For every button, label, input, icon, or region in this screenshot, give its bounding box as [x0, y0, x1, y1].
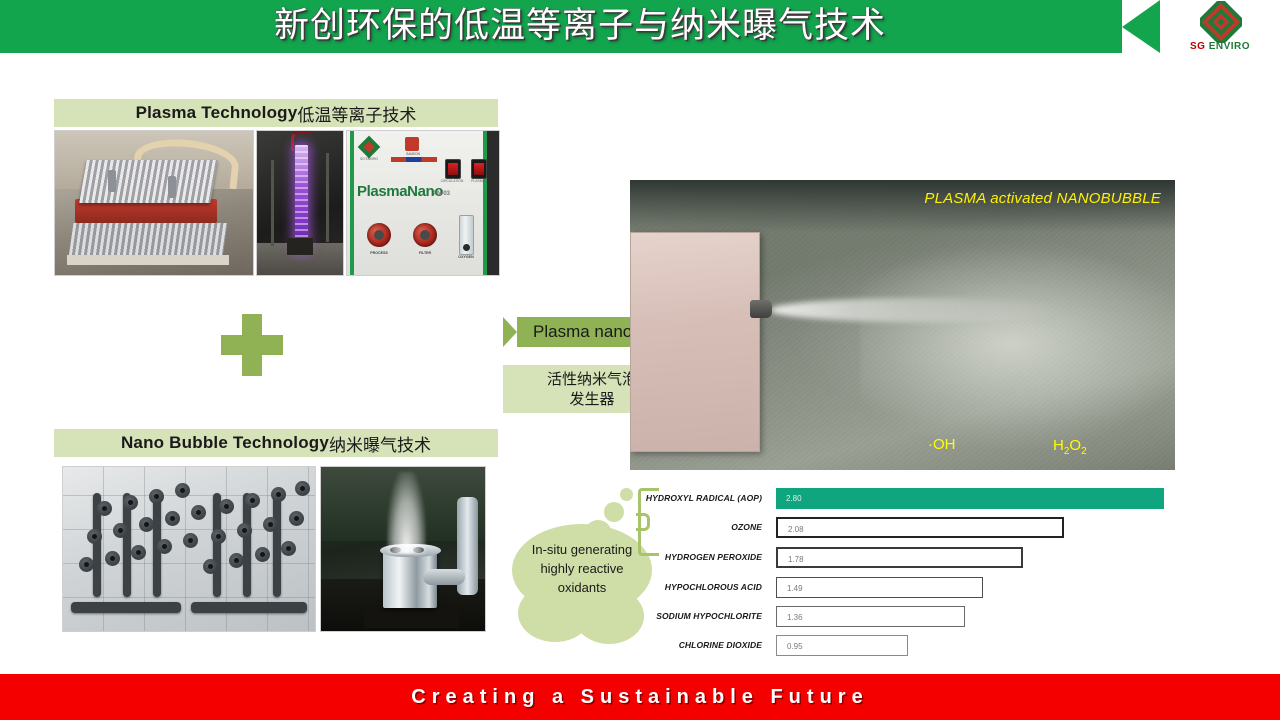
sg-enviro-logo: SG ENVIRO	[1168, 1, 1272, 53]
panel-knob-process-label: PROCESS	[362, 251, 396, 255]
caption-line-2: 发生器	[547, 389, 637, 409]
plasma-reactor-photo	[54, 130, 254, 276]
plasma-technology-section-header: Plasma Technology 低温等离子技术	[54, 99, 498, 127]
chart-bar: 1.36	[776, 606, 965, 627]
panel-knob-process	[367, 223, 391, 247]
annotation-atomic-oxygen-1: · O	[870, 469, 891, 470]
page-header: 新创环保的低温等离子与纳米曝气技术	[0, 0, 1280, 53]
chart-bar: 2.80	[776, 488, 1164, 509]
plasma-section-title-cn: 低温等离子技术	[297, 101, 416, 126]
oxidant-potential-bar-chart: HYDROXYL RADICAL (AOP) 2.80 OZONE 2.08 H…	[630, 485, 1190, 650]
chart-category-label: SODIUM HYPOCHLORITE	[630, 606, 762, 627]
panel-flowmeter-label: OXYGEN	[449, 255, 483, 259]
chart-category-label: HYDROXYL RADICAL (AOP)	[630, 488, 762, 509]
annotation-hydroxyl-1: ·OH	[928, 436, 956, 453]
footer-tagline: Creating a Sustainable Future	[0, 674, 1280, 720]
chart-category-label: CHLORINE DIOXIDE	[630, 635, 762, 656]
panel-model-number: PN-03	[433, 191, 450, 197]
nano-bubble-diffuser-array-photo	[62, 466, 316, 632]
nano-bubble-misting-vessel-photo	[320, 466, 486, 632]
panel-switch-plasma	[471, 159, 487, 179]
chart-row: HYDROGEN PEROXIDE 1.78	[630, 547, 1190, 568]
panel-switch-plasma-label: PLASMA	[465, 179, 491, 183]
panel-knob-filter-label: FILTER	[408, 251, 442, 255]
plasma-nano-arrow-label: Plasma nano	[533, 322, 632, 342]
chart-bar: 2.08	[776, 517, 1064, 538]
plasma-photo-title: PLASMA activated NANOBUBBLE	[924, 190, 1161, 207]
chart-category-label: HYDROGEN PEROXIDE	[630, 547, 762, 568]
cloud-text: In-situ generating highly reactive oxida…	[530, 540, 634, 597]
nano-bubble-technology-section-header: Nano Bubble Technology 纳米曝气技术	[54, 429, 498, 457]
nano-section-title-cn: 纳米曝气技术	[329, 431, 431, 456]
chart-category-label: OZONE	[630, 517, 762, 538]
plasma-section-title-en: Plasma Technology	[136, 103, 298, 123]
sg-enviro-logo-mark	[1200, 1, 1242, 43]
chart-bar-value: 2.80	[786, 488, 802, 509]
plasma-activated-nanobubble-photo: PLASMA activated NANOBUBBLE ·OH H2O2 · O…	[630, 180, 1175, 470]
panel-partner-logo-label: SAMSON	[391, 152, 435, 156]
panel-brand-name: PlasmaNano	[357, 183, 443, 200]
chart-row: OZONE 2.08	[630, 517, 1190, 538]
chart-row: HYPOCHLOROUS ACID 1.49	[630, 577, 1190, 598]
chart-bar-value: 1.78	[788, 549, 804, 570]
annotation-hydrogen-peroxide-1: H2O2	[1053, 437, 1087, 457]
chart-category-label: HYPOCHLOROUS ACID	[630, 577, 762, 598]
chart-bar-value: 2.08	[788, 519, 804, 540]
plasma-discharge-tube-photo	[256, 130, 344, 276]
page-footer: Creating a Sustainable Future	[0, 674, 1280, 720]
caption-line-1: 活性纳米气泡	[547, 369, 637, 389]
chart-row: SODIUM HYPOCHLORITE 1.36	[630, 606, 1190, 627]
logo-text-sg: SG	[1190, 41, 1205, 52]
panel-sg-logo-label: SG ENVIRO	[353, 157, 385, 161]
logo-text-enviro: ENVIRO	[1209, 41, 1250, 52]
chart-bar: 1.78	[776, 547, 1023, 568]
page-title: 新创环保的低温等离子与纳米曝气技术	[0, 4, 1160, 49]
plasmanano-control-panel-photo: SG ENVIRO SAMSON CIRCULATION PLASMA Plas…	[346, 130, 500, 276]
panel-flowmeter	[459, 215, 474, 255]
chart-row: HYDROXYL RADICAL (AOP) 2.80	[630, 488, 1190, 509]
panel-knob-filter	[413, 223, 437, 247]
chart-bar-value: 1.36	[787, 607, 803, 628]
nano-section-title-en: Nano Bubble Technology	[121, 433, 329, 453]
sg-enviro-logo-text: SG ENVIRO	[1168, 41, 1272, 52]
chart-bar-value: 0.95	[787, 636, 803, 657]
chart-bar-value: 1.49	[787, 578, 803, 599]
plus-sign-icon	[221, 314, 283, 376]
chart-row: CHLORINE DIOXIDE 0.95	[630, 635, 1190, 656]
chart-bar: 1.49	[776, 577, 983, 598]
panel-partner-logo-icon	[405, 137, 419, 151]
panel-switch-circulation	[445, 159, 461, 179]
chart-bar: 0.95	[776, 635, 908, 656]
